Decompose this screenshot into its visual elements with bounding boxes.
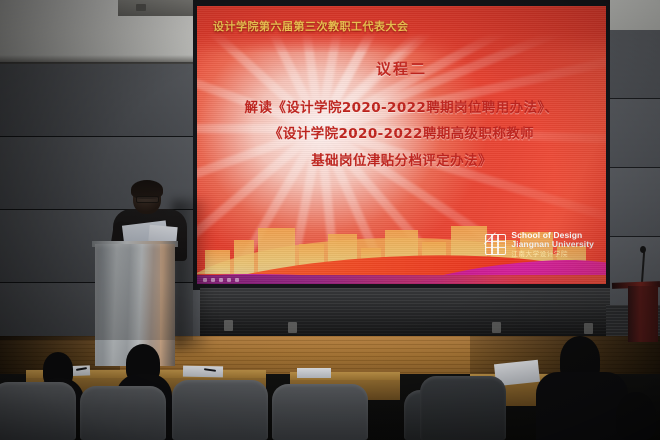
slide-agenda-label: 议程二 xyxy=(197,58,606,79)
auditorium-chair xyxy=(420,376,506,440)
slat-clip xyxy=(584,323,593,334)
ceiling-beam xyxy=(118,0,200,16)
logo-line-university: Jiangnan University xyxy=(511,240,594,250)
desktop-taskbar-strip xyxy=(197,275,606,284)
wall-panel xyxy=(0,64,200,136)
slatted-wall-shading xyxy=(200,288,610,338)
auditorium-presentation-scene: 设计学院第六届第三次教职工代表大会 议程二 解读《设计学院2020-2022聘期… xyxy=(0,0,660,440)
wall-upper-shadow xyxy=(0,55,200,64)
slat-clip xyxy=(492,322,501,333)
slide-logo: School of Design Jiangnan University 江南大… xyxy=(485,231,594,258)
slat-clip xyxy=(224,320,233,331)
wall-upper-band-right xyxy=(606,0,660,30)
auditorium-chair xyxy=(172,380,268,440)
slide-body-line-3: 基础岗位津贴分档评定办法》 xyxy=(197,148,606,174)
logo-line-chinese: 江南大学设计学院 xyxy=(511,251,594,258)
slide-header-text: 设计学院第六届第三次教职工代表大会 xyxy=(213,18,513,34)
wall-panel-right xyxy=(606,30,660,98)
slide-body-line-1: 解读《设计学院2020-2022聘期岗位聘用办法》、 xyxy=(197,95,606,121)
podium-highlight-right xyxy=(160,244,175,366)
slide-body: 议程二 解读《设计学院2020-2022聘期岗位聘用办法》、 《设计学院2020… xyxy=(197,58,606,174)
wall-panel-right xyxy=(606,99,660,167)
audience-person-head xyxy=(616,392,656,440)
wall-seam xyxy=(0,136,200,137)
wall-panel xyxy=(0,137,200,209)
auditorium-chair xyxy=(272,384,368,440)
podium-highlight-left xyxy=(95,244,103,366)
audience-person-body xyxy=(536,372,628,440)
slide-body-line-2: 《设计学院2020-2022聘期高级职称教师 xyxy=(197,121,606,147)
speaker-glasses-icon xyxy=(136,196,159,203)
side-lectern xyxy=(628,286,658,342)
wall-panel-right xyxy=(606,168,660,236)
audience-notes xyxy=(183,366,223,378)
auditorium-chair xyxy=(80,386,166,440)
microphone-icon xyxy=(640,246,646,253)
auditorium-chair xyxy=(0,382,76,440)
projection-screen: 设计学院第六届第三次教职工代表大会 议程二 解读《设计学院2020-2022聘期… xyxy=(197,6,606,284)
slat-clip xyxy=(288,322,297,333)
grid-window-logo-icon xyxy=(485,234,506,255)
ceiling-vent-icon xyxy=(136,4,146,11)
audience-notes xyxy=(297,368,331,378)
